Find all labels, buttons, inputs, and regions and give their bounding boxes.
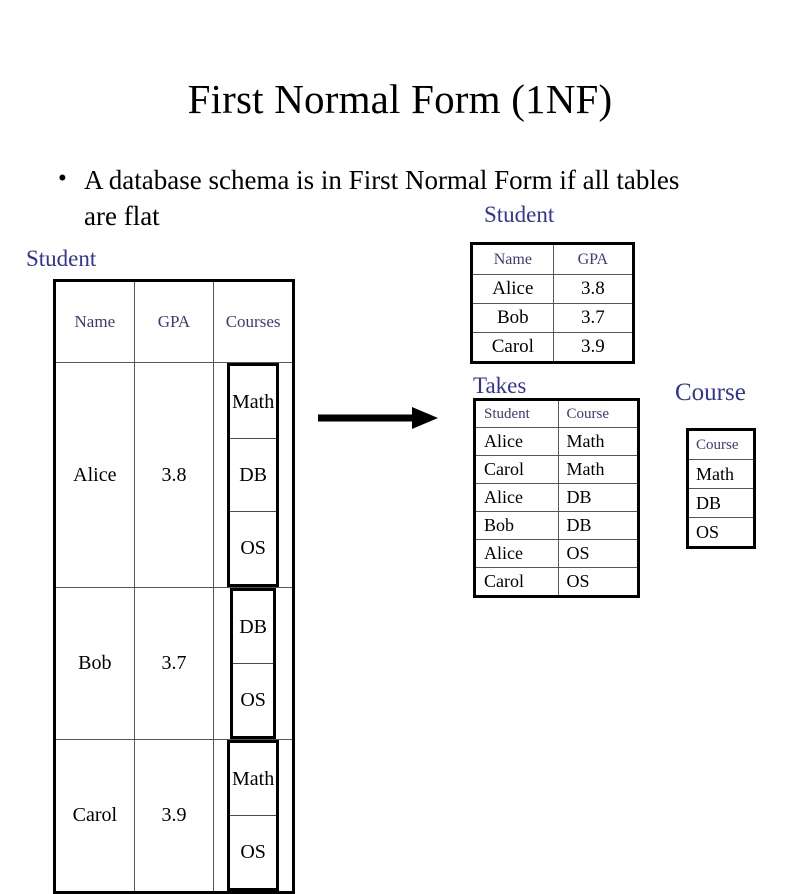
nested-course-cell: Math bbox=[229, 742, 278, 816]
caption-student-flat: Student bbox=[484, 203, 554, 226]
nested-course-table: DB OS bbox=[230, 588, 276, 739]
table-row: Alice OS bbox=[475, 540, 639, 568]
cell-name: Carol bbox=[472, 333, 554, 363]
table-header-row: Name GPA bbox=[472, 244, 634, 275]
nested-course-table: Math DB OS bbox=[227, 363, 279, 587]
bullet-list: • A database schema is in First Normal F… bbox=[58, 163, 718, 234]
table-header-row: Course bbox=[688, 430, 755, 460]
table-header-row: Name GPA Courses bbox=[55, 281, 294, 363]
cell-name: Alice bbox=[472, 275, 554, 304]
nested-course-cell: OS bbox=[229, 816, 278, 890]
caption-takes: Takes bbox=[473, 374, 526, 397]
table-student-flat: Name GPA Alice 3.8 Bob 3.7 Carol 3.9 bbox=[470, 242, 635, 364]
column-header-course: Course bbox=[688, 430, 755, 460]
column-header-gpa: GPA bbox=[134, 281, 214, 363]
cell-gpa: 3.7 bbox=[553, 304, 633, 333]
cell-name: Bob bbox=[55, 588, 135, 740]
caption-student-nested: Student bbox=[26, 247, 96, 270]
cell-student: Alice bbox=[475, 540, 559, 568]
nested-course-cell: Math bbox=[229, 365, 278, 439]
cell-student: Carol bbox=[475, 456, 559, 484]
cell-name: Alice bbox=[55, 363, 135, 588]
bullet-marker-icon: • bbox=[58, 163, 84, 196]
cell-course: DB bbox=[558, 512, 639, 540]
column-header-courses: Courses bbox=[214, 281, 294, 363]
table-row: Math bbox=[688, 460, 755, 489]
table-row: DB bbox=[688, 489, 755, 518]
caption-course: Course bbox=[675, 380, 746, 405]
table-row: Alice 3.8 bbox=[472, 275, 634, 304]
column-header-student: Student bbox=[475, 400, 559, 428]
cell-student: Alice bbox=[475, 484, 559, 512]
cell-student: Alice bbox=[475, 428, 559, 456]
column-header-course: Course bbox=[558, 400, 639, 428]
table-takes: Student Course Alice Math Carol Math Ali… bbox=[473, 398, 640, 598]
cell-student: Carol bbox=[475, 568, 559, 597]
cell-course: OS bbox=[558, 540, 639, 568]
table-row: Carol 3.9 Math OS bbox=[55, 740, 294, 893]
cell-name: Bob bbox=[472, 304, 554, 333]
transform-arrow-icon bbox=[316, 403, 440, 433]
table-row: OS bbox=[688, 518, 755, 548]
cell-course: Math bbox=[558, 456, 639, 484]
table-row: Alice 3.8 Math DB OS bbox=[55, 363, 294, 588]
cell-courses: Math DB OS bbox=[214, 363, 294, 588]
list-item: • A database schema is in First Normal F… bbox=[58, 163, 718, 234]
cell-gpa: 3.8 bbox=[134, 363, 214, 588]
cell-course: Math bbox=[688, 460, 755, 489]
table-row: Alice DB bbox=[475, 484, 639, 512]
column-header-name: Name bbox=[55, 281, 135, 363]
table-row: Carol OS bbox=[475, 568, 639, 597]
cell-student: Bob bbox=[475, 512, 559, 540]
table-row: Bob DB bbox=[475, 512, 639, 540]
nested-course-cell: DB bbox=[229, 439, 278, 512]
cell-gpa: 3.9 bbox=[134, 740, 214, 893]
table-row: Carol 3.9 bbox=[472, 333, 634, 363]
table-student-nested: Name GPA Courses Alice 3.8 Math DB OS Bo… bbox=[53, 279, 295, 894]
nested-course-cell: OS bbox=[232, 664, 275, 738]
column-header-name: Name bbox=[472, 244, 554, 275]
bullet-text: A database schema is in First Normal For… bbox=[84, 163, 709, 234]
table-row: Carol Math bbox=[475, 456, 639, 484]
page-title: First Normal Form (1NF) bbox=[0, 78, 800, 121]
cell-course: Math bbox=[558, 428, 639, 456]
cell-course: DB bbox=[688, 489, 755, 518]
table-header-row: Student Course bbox=[475, 400, 639, 428]
cell-name: Carol bbox=[55, 740, 135, 893]
table-row: Bob 3.7 DB OS bbox=[55, 588, 294, 740]
table-row: Bob 3.7 bbox=[472, 304, 634, 333]
cell-gpa: 3.9 bbox=[553, 333, 633, 363]
cell-gpa: 3.8 bbox=[553, 275, 633, 304]
nested-course-table: Math OS bbox=[227, 740, 279, 891]
nested-course-cell: OS bbox=[229, 512, 278, 586]
column-header-gpa: GPA bbox=[553, 244, 633, 275]
cell-gpa: 3.7 bbox=[134, 588, 214, 740]
cell-courses: Math OS bbox=[214, 740, 294, 893]
table-course: Course Math DB OS bbox=[686, 428, 756, 549]
cell-courses: DB OS bbox=[214, 588, 294, 740]
cell-course: DB bbox=[558, 484, 639, 512]
table-row: Alice Math bbox=[475, 428, 639, 456]
nested-course-cell: DB bbox=[232, 590, 275, 664]
cell-course: OS bbox=[558, 568, 639, 597]
cell-course: OS bbox=[688, 518, 755, 548]
